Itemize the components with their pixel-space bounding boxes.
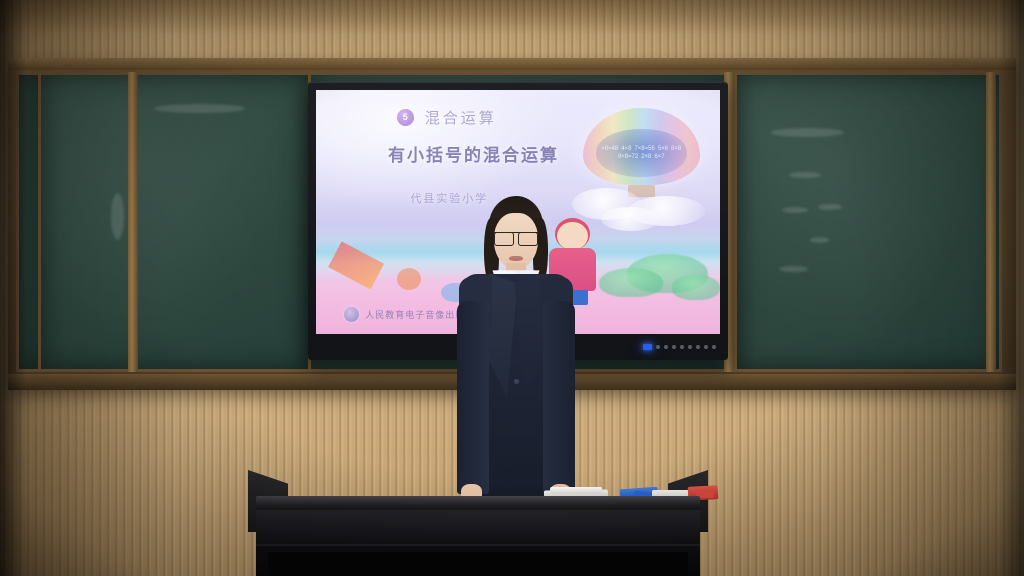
teacher-arm [543,301,575,493]
balloon-number-overlay: ×8=48 4×8 7×8=56 5×6 8×8 9×8=72 2×8 6×7 [596,129,687,177]
classroom-scene: ×8=48 4×8 7×8=56 5×6 8×8 9×8=72 2×8 6×7 [0,0,1024,576]
cloud-icon [601,207,660,231]
teacher-arm [457,301,489,493]
balloon-number: ×8=48 [601,146,618,153]
balloon-number: 4×8 [621,146,631,153]
bezel-button[interactable] [672,345,676,349]
bush-icon [599,268,664,297]
bezel-button[interactable] [704,345,708,349]
chalkboard-top-rail [8,58,1016,70]
bezel-button[interactable] [712,345,716,349]
stack-of-papers[interactable] [550,487,602,494]
jacket-button [514,379,518,384]
decor-blob [397,268,421,290]
chalkboard-slide-rail[interactable] [128,72,138,372]
power-led-icon [643,344,652,350]
balloon-number: 9×8=72 [618,154,638,161]
lesson-title: 有小括号的混合运算 [356,141,590,166]
bush-icon [672,275,720,299]
right-chalkboard[interactable] [734,72,1002,372]
lectern-seam [256,544,700,546]
teacher-mouth [509,256,522,261]
balloon-number: 6×7 [654,154,664,161]
lectern-shelf-cavity [268,552,688,576]
unit-title: 混合运算 [425,107,497,128]
slide-unit-row: 5 混合运算 [397,107,497,128]
left-chalkboard[interactable] [38,72,312,372]
balloon-number: 8×8 [671,146,681,153]
bezel-button[interactable] [688,345,692,349]
bezel-button[interactable] [680,345,684,349]
glasses-icon [494,232,538,245]
whiteboard-control-strip[interactable] [643,344,716,350]
unit-number-badge: 5 [397,109,414,126]
bezel-button[interactable] [664,345,668,349]
chalkboard-slide-rail[interactable] [986,72,996,372]
balloon-number: 2×8 [641,154,651,161]
publisher-logo-icon [344,307,359,322]
bezel-button[interactable] [656,345,660,349]
lectern [248,470,708,576]
bezel-button[interactable] [696,345,700,349]
teacher-figure [432,196,600,506]
balloon-number: 7×8=56 [634,146,654,153]
balloon-number: 5×6 [658,146,668,153]
